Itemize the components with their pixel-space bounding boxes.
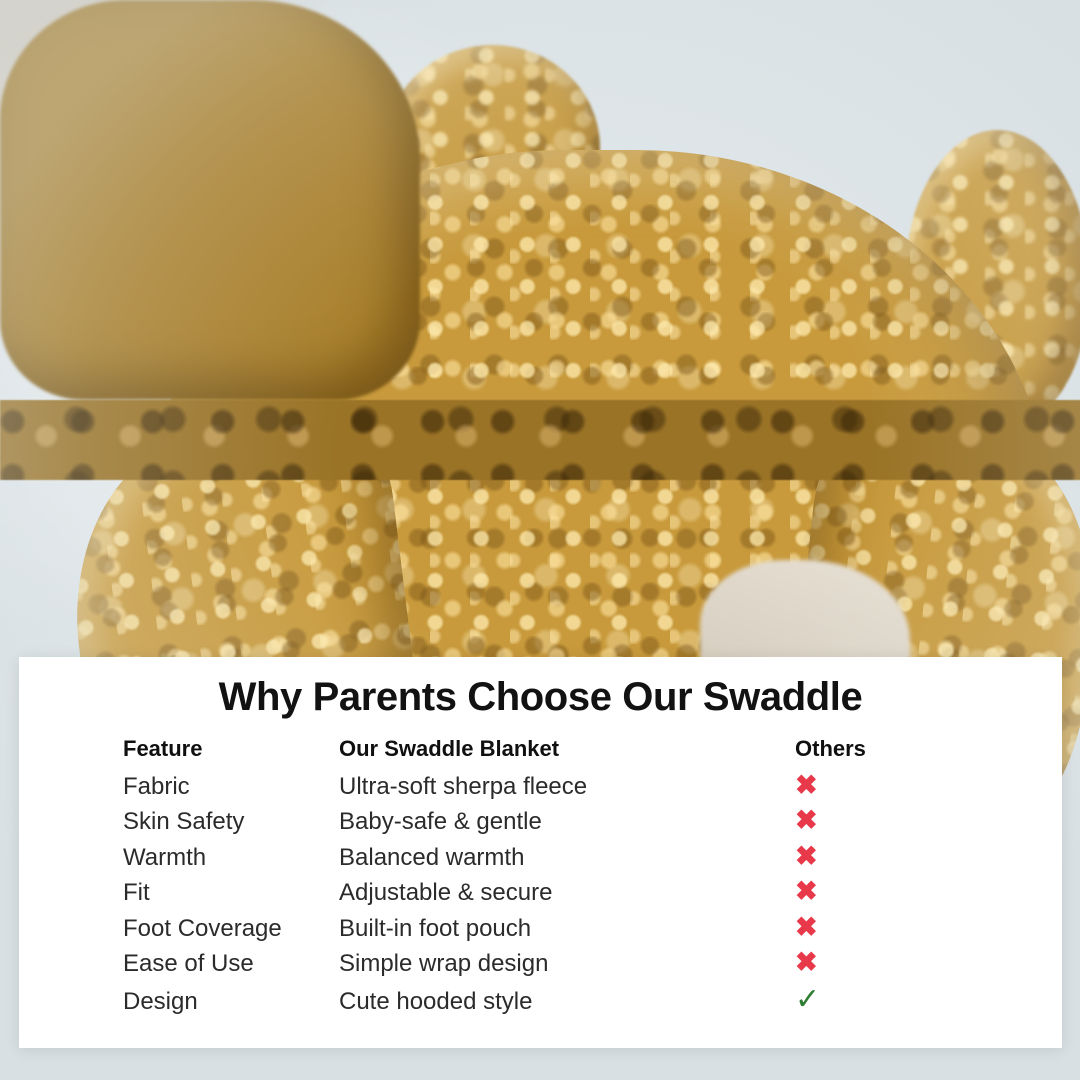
cell-our-swaddle: Built-in foot pouch: [339, 915, 777, 943]
cell-feature: Warmth: [19, 844, 339, 872]
cell-our-swaddle: Balanced warmth: [339, 844, 777, 872]
table-row: FitAdjustable & secure✖: [19, 878, 1062, 914]
table-row: WarmthBalanced warmth✖: [19, 843, 1062, 879]
check-icon: ✓: [795, 985, 820, 1015]
cell-feature: Foot Coverage: [19, 915, 339, 943]
table-row: Ease of UseSimple wrap design✖: [19, 949, 1062, 985]
column-header-ours: Our Swaddle Blanket: [339, 736, 777, 762]
cell-feature: Design: [19, 988, 339, 1016]
cell-feature: Ease of Use: [19, 950, 339, 978]
cross-icon: ✖: [795, 807, 818, 834]
cell-others: ✓: [777, 985, 947, 1015]
page-title: Why Parents Choose Our Swaddle: [19, 675, 1062, 720]
table-row: DesignCute hooded style✓: [19, 985, 1062, 1021]
swaddle-body-left: [0, 0, 420, 400]
cell-feature: Fit: [19, 879, 339, 907]
cross-icon: ✖: [795, 878, 818, 905]
cross-icon: ✖: [795, 772, 818, 799]
cell-others: ✖: [777, 914, 947, 941]
cross-icon: ✖: [795, 914, 818, 941]
column-header-feature: Feature: [19, 736, 339, 762]
cell-others: ✖: [777, 878, 947, 905]
cell-others: ✖: [777, 807, 947, 834]
table-header-row: Feature Our Swaddle Blanket Others: [19, 736, 1062, 772]
comparison-table: Feature Our Swaddle Blanket Others Fabri…: [19, 736, 1062, 1020]
cell-others: ✖: [777, 772, 947, 799]
cell-others: ✖: [777, 949, 947, 976]
table-row: Foot CoverageBuilt-in foot pouch✖: [19, 914, 1062, 950]
column-header-others: Others: [777, 736, 947, 762]
cell-our-swaddle: Ultra-soft sherpa fleece: [339, 773, 777, 801]
cell-feature: Fabric: [19, 773, 339, 801]
cell-our-swaddle: Simple wrap design: [339, 950, 777, 978]
cell-feature: Skin Safety: [19, 808, 339, 836]
table-row: FabricUltra-soft sherpa fleece✖: [19, 772, 1062, 808]
cell-our-swaddle: Baby-safe & gentle: [339, 808, 777, 836]
cross-icon: ✖: [795, 949, 818, 976]
swaddle-bottom-band: [0, 400, 1080, 480]
cell-our-swaddle: Adjustable & secure: [339, 879, 777, 907]
table-body: FabricUltra-soft sherpa fleece✖Skin Safe…: [19, 772, 1062, 1021]
cell-others: ✖: [777, 843, 947, 870]
comparison-card: Why Parents Choose Our Swaddle Feature O…: [19, 657, 1062, 1048]
cell-our-swaddle: Cute hooded style: [339, 988, 777, 1016]
table-row: Skin SafetyBaby-safe & gentle✖: [19, 807, 1062, 843]
cross-icon: ✖: [795, 843, 818, 870]
